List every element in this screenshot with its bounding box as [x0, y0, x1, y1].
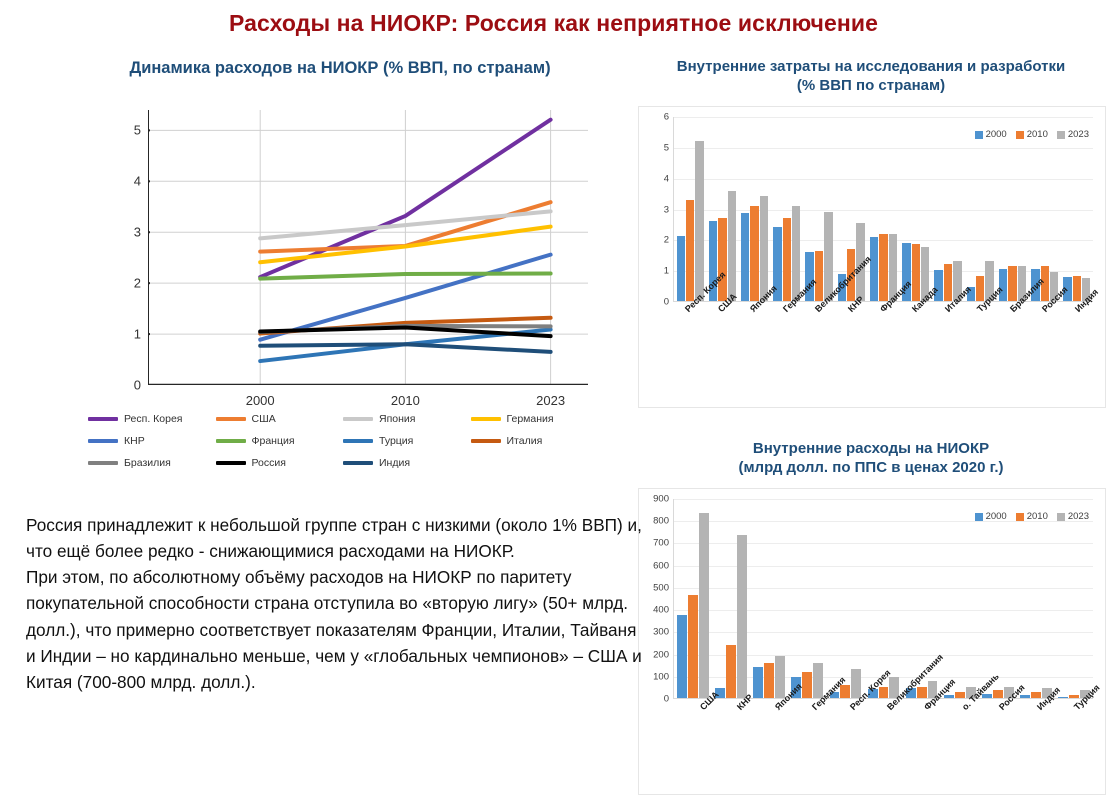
- line-chart-xtick: 2023: [536, 393, 565, 408]
- bar-group: [932, 117, 964, 301]
- line-chart-ytick: 1: [134, 327, 141, 342]
- bar-chart-plot: [673, 117, 1093, 302]
- bar-chart-ytick: 4: [643, 173, 669, 184]
- bar-chart-ytick: 0: [643, 297, 669, 308]
- bar-chart-gdp-share-legend: 200020102023: [975, 129, 1089, 140]
- bar-2010[interactable]: [879, 687, 889, 698]
- title-line-2: (% ВВП по странам): [636, 77, 1106, 96]
- bar-chart-ytick: 100: [643, 671, 669, 682]
- line-legend-item[interactable]: Турция: [343, 435, 471, 447]
- bar-2023[interactable]: [737, 535, 747, 698]
- bar-group: [964, 117, 996, 301]
- bar-group: [979, 499, 1017, 698]
- bar-chart-absolute-plotarea: 0100200300400500600700800900: [647, 499, 1095, 699]
- line-legend-item[interactable]: Индия: [343, 457, 471, 469]
- legend-label: 2010: [1027, 511, 1048, 522]
- bar-group: [712, 499, 750, 698]
- bar-2023[interactable]: [775, 656, 785, 698]
- bar-group: [803, 117, 835, 301]
- line-legend-item[interactable]: Респ. Корея: [88, 413, 216, 425]
- title-line-1: Внутренние расходы на НИОКР: [636, 440, 1106, 459]
- line-chart-panel: Динамика расходов на НИОКР (% ВВП, по ст…: [60, 58, 620, 483]
- bar-group: [867, 117, 899, 301]
- legend-swatch-icon: [216, 461, 246, 465]
- line-legend-item[interactable]: Бразилия: [88, 457, 216, 469]
- bar-2010[interactable]: [917, 687, 927, 698]
- bar-2000[interactable]: [1020, 695, 1030, 698]
- bar-2010[interactable]: [1031, 692, 1041, 698]
- bar-chart-ytick: 500: [643, 582, 669, 593]
- legend-label: 2023: [1068, 129, 1089, 140]
- bar-2010[interactable]: [802, 672, 812, 698]
- line-legend-item[interactable]: Франция: [216, 435, 344, 447]
- bar-chart-ytick: 3: [643, 204, 669, 215]
- bar-chart-gdp-share-title: Внутренние затраты на исследования и раз…: [636, 58, 1106, 96]
- bar-2010[interactable]: [1008, 266, 1016, 301]
- slide-root: Расходы на НИОКР: Россия как неприятное …: [0, 0, 1107, 801]
- bar-group: [674, 499, 712, 698]
- bar-2010[interactable]: [718, 218, 726, 301]
- bar-chart-absolute-frame: 0100200300400500600700800900 20002010202…: [638, 488, 1106, 795]
- legend-label: Турция: [379, 435, 413, 447]
- legend-swatch-icon: [1016, 513, 1024, 521]
- line-legend-item[interactable]: Германия: [471, 413, 599, 425]
- legend-swatch-icon: [1016, 131, 1024, 139]
- bar-chart-y-axis: 0123456: [647, 117, 673, 302]
- bar-2010[interactable]: [879, 234, 887, 301]
- legend-swatch-icon: [1057, 513, 1065, 521]
- bar-chart-ytick: 6: [643, 112, 669, 123]
- bar-2000[interactable]: [677, 615, 687, 698]
- line-legend-item[interactable]: Россия: [216, 457, 344, 469]
- bar-2023[interactable]: [699, 513, 709, 698]
- bar-group: [738, 117, 770, 301]
- bar-2023[interactable]: [695, 141, 703, 301]
- bar-2010[interactable]: [1073, 276, 1081, 301]
- bar-2023[interactable]: [760, 196, 768, 301]
- bar-2000[interactable]: [741, 213, 749, 301]
- bar-group: [771, 117, 803, 301]
- legend-label: Индия: [379, 457, 410, 469]
- bar-2000[interactable]: [999, 269, 1007, 301]
- bar-2010[interactable]: [944, 264, 952, 301]
- bar-chart-gdp-share-xlabels: Респ. КореяСШАЯпонияГерманияВеликобритан…: [673, 307, 1095, 402]
- legend-label: 2023: [1068, 511, 1089, 522]
- legend-swatch-icon: [216, 439, 246, 443]
- bar-chart-gdp-share-panel: Внутренние затраты на исследования и раз…: [636, 58, 1106, 413]
- legend-label: 2010: [1027, 129, 1048, 140]
- legend-swatch-icon: [975, 131, 983, 139]
- legend-swatch-icon: [343, 461, 373, 465]
- bar-group: [826, 499, 864, 698]
- bar-2000[interactable]: [870, 237, 878, 301]
- legend-label: 2000: [986, 511, 1007, 522]
- line-chart-ytick: 2: [134, 276, 141, 291]
- legend-swatch-icon: [975, 513, 983, 521]
- bar-chart-gdp-share-frame: 0123456 200020102023 Респ. КореяСШАЯпони…: [638, 106, 1106, 408]
- legend-label: 2000: [986, 129, 1007, 140]
- bar-group: [1017, 499, 1055, 698]
- bar-legend-item[interactable]: 2000: [975, 511, 1007, 522]
- legend-label: Германия: [507, 413, 554, 425]
- line-chart-ytick: 4: [134, 174, 141, 189]
- bar-group: [1029, 117, 1061, 301]
- page-title: Расходы на НИОКР: Россия как неприятное …: [0, 10, 1107, 37]
- legend-swatch-icon: [471, 439, 501, 443]
- bar-2023[interactable]: [728, 191, 736, 301]
- legend-swatch-icon: [88, 417, 118, 421]
- legend-label: Россия: [252, 457, 286, 469]
- bar-2010[interactable]: [815, 251, 823, 301]
- bar-chart-ytick: 900: [643, 494, 669, 505]
- legend-label: Италия: [507, 435, 543, 447]
- bar-2023[interactable]: [792, 206, 800, 301]
- line-chart-ytick: 0: [134, 378, 141, 393]
- body-text: Россия принадлежит к небольшой группе ст…: [26, 512, 644, 695]
- bar-chart-ytick: 1: [643, 266, 669, 277]
- legend-label: США: [252, 413, 276, 425]
- bar-chart-absolute-title: Внутренние расходы на НИОКР (млрд долл. …: [636, 440, 1106, 478]
- bar-chart-ytick: 600: [643, 560, 669, 571]
- line-chart-svg: [148, 110, 588, 385]
- line-chart-ytick: 5: [134, 123, 141, 138]
- legend-swatch-icon: [471, 417, 501, 421]
- bar-group: [788, 499, 826, 698]
- line-legend-item[interactable]: КНР: [88, 435, 216, 447]
- bar-group: [996, 117, 1028, 301]
- bar-group: [1055, 499, 1093, 698]
- body-paragraph-2: При этом, по абсолютному объёму расходов…: [26, 564, 644, 695]
- legend-label: Респ. Корея: [124, 413, 182, 425]
- legend-label: Бразилия: [124, 457, 171, 469]
- bar-2010[interactable]: [1069, 695, 1079, 698]
- title-line-2: (млрд долл. по ППС в ценах 2020 г.): [636, 459, 1106, 478]
- bar-chart-ytick: 200: [643, 649, 669, 660]
- bar-2000[interactable]: [677, 236, 685, 301]
- body-paragraph-1: Россия принадлежит к небольшой группе ст…: [26, 512, 644, 564]
- line-chart-plot: 012345 200020102023: [148, 110, 588, 385]
- bar-2010[interactable]: [764, 663, 774, 698]
- bar-2000[interactable]: [753, 667, 763, 698]
- bar-chart-ytick: 2: [643, 235, 669, 246]
- bar-chart-y-axis: 0100200300400500600700800900: [647, 499, 673, 699]
- line-chart-legend: Респ. КореяСШАЯпонияГерманияКНРФранцияТу…: [88, 413, 598, 479]
- bar-chart-ytick: 5: [643, 142, 669, 153]
- bar-2010[interactable]: [686, 200, 694, 301]
- bar-group: [941, 499, 979, 698]
- bar-legend-item[interactable]: 2023: [1057, 511, 1089, 522]
- bar-chart-ytick: 0: [643, 694, 669, 705]
- legend-swatch-icon: [88, 461, 118, 465]
- legend-swatch-icon: [216, 417, 246, 421]
- bar-groups: [674, 117, 1093, 301]
- bar-chart-absolute-panel: Внутренние расходы на НИОКР (млрд долл. …: [636, 440, 1106, 795]
- bar-2010[interactable]: [688, 595, 698, 698]
- line-legend-item[interactable]: США: [216, 413, 344, 425]
- bar-2010[interactable]: [726, 645, 736, 698]
- bar-legend-item[interactable]: 2010: [1016, 511, 1048, 522]
- bar-chart-ytick: 800: [643, 516, 669, 527]
- legend-label: Франция: [252, 435, 295, 447]
- bar-chart-ytick: 700: [643, 538, 669, 549]
- title-line-1: Внутренние затраты на исследования и раз…: [636, 58, 1106, 77]
- bar-chart-absolute-xlabels: СШАКНРЯпонияГерманияРесп. КореяВеликобри…: [683, 705, 1095, 790]
- bar-2010[interactable]: [912, 244, 920, 301]
- bar-group: [750, 499, 788, 698]
- bar-chart-ytick: 400: [643, 605, 669, 616]
- legend-label: КНР: [124, 435, 145, 447]
- legend-swatch-icon: [1057, 131, 1065, 139]
- bar-2010[interactable]: [955, 692, 965, 698]
- bar-2000[interactable]: [934, 270, 942, 301]
- bar-2010[interactable]: [750, 206, 758, 301]
- bar-2010[interactable]: [783, 218, 791, 301]
- bar-2000[interactable]: [1058, 697, 1068, 698]
- line-chart-xtick: 2010: [391, 393, 420, 408]
- bar-group: [1061, 117, 1093, 301]
- line-legend-item[interactable]: Италия: [471, 435, 599, 447]
- line-chart-title: Динамика расходов на НИОКР (% ВВП, по ст…: [60, 58, 620, 78]
- bar-legend-item[interactable]: 2010: [1016, 129, 1048, 140]
- line-chart-ytick: 3: [134, 225, 141, 240]
- line-chart-xtick: 2000: [246, 393, 275, 408]
- bar-2010[interactable]: [993, 690, 1003, 698]
- bar-group: [900, 117, 932, 301]
- bar-chart-absolute-legend: 200020102023: [975, 511, 1089, 522]
- bar-chart-ytick: 300: [643, 627, 669, 638]
- legend-swatch-icon: [88, 439, 118, 443]
- legend-swatch-icon: [343, 439, 373, 443]
- bar-legend-item[interactable]: 2000: [975, 129, 1007, 140]
- bar-legend-item[interactable]: 2023: [1057, 129, 1089, 140]
- line-legend-item[interactable]: Япония: [343, 413, 471, 425]
- legend-swatch-icon: [343, 417, 373, 421]
- legend-label: Япония: [379, 413, 415, 425]
- bar-group: [674, 117, 706, 301]
